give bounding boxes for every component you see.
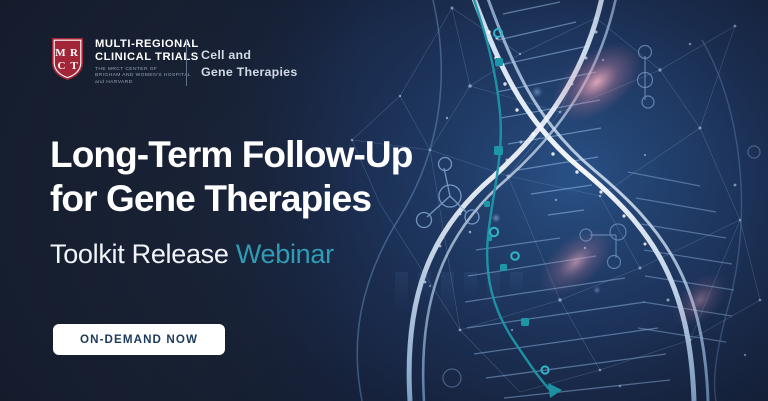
subtitle: Toolkit Release Webinar [50, 237, 334, 271]
unit-name-line1: Cell and [201, 47, 297, 64]
svg-text:R: R [70, 47, 79, 59]
logo-wordmark: MULTI-REGIONAL CLINICAL TRIALS THE MRCT … [95, 36, 199, 86]
webinar-promo-banner: M R C T MULTI-REGIONAL CLINICAL TRIALS T… [0, 0, 768, 401]
logo-title-line2: CLINICAL TRIALS [95, 51, 199, 64]
subtitle-plain: Toolkit Release [50, 239, 229, 269]
headline-line2: for Gene Therapies [50, 177, 412, 221]
logo-title-line1: MULTI-REGIONAL [95, 38, 199, 51]
unit-name-line2: Gene Therapies [201, 64, 297, 81]
svg-text:C: C [58, 60, 66, 72]
program-unit-name: Cell and Gene Therapies [201, 47, 297, 80]
logo-tagline-line3: and HARVARD [95, 80, 199, 86]
page-title: Long-Term Follow-Up for Gene Therapies [50, 133, 412, 221]
svg-text:T: T [70, 60, 78, 72]
banner-content: M R C T MULTI-REGIONAL CLINICAL TRIALS T… [0, 0, 768, 401]
svg-text:M: M [55, 47, 66, 59]
on-demand-now-button[interactable]: ON-DEMAND NOW [53, 324, 225, 355]
logo-tagline-line2: BRIGHAM AND WOMEN'S HOSPITAL [95, 73, 199, 79]
subtitle-accent: Webinar [236, 239, 334, 269]
mrct-logo[interactable]: M R C T MULTI-REGIONAL CLINICAL TRIALS T… [50, 36, 199, 86]
mrct-shield-icon: M R C T [50, 36, 85, 81]
logo-divider [186, 40, 187, 86]
headline-line1: Long-Term Follow-Up [50, 133, 412, 177]
